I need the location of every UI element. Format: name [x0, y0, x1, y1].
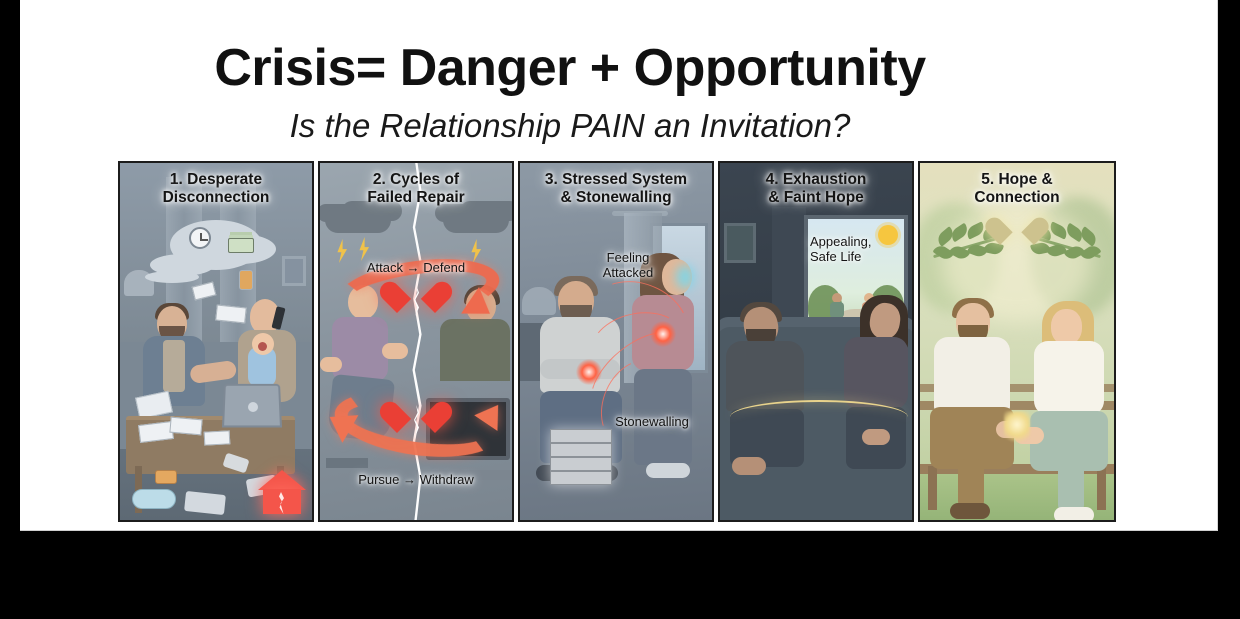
panel-3-illustration: [520, 163, 712, 520]
cracked-house-icon: [258, 470, 306, 514]
appealing-safe-life-label: Appealing, Safe Life: [810, 235, 892, 265]
pill-bottle-icon: [155, 470, 177, 484]
attack-defend-label: Attack → Defend: [320, 261, 512, 276]
panel-desperate-disconnection[interactable]: 1. Desperate Disconnection: [118, 161, 314, 522]
man-figure: [930, 303, 1022, 510]
panel-2-title: 2. Cycles of Failed Repair: [320, 171, 512, 207]
panel-4-title: 4. Exhaustion & Faint Hope: [720, 171, 912, 207]
face-mask-icon: [132, 489, 176, 509]
red-spark-icon: [650, 321, 676, 347]
lightning-bolt-icon: [358, 237, 370, 261]
panel-exhaustion-and-faint-hope[interactable]: 4. Exhaustion & Faint Hope Appealing, Sa…: [718, 161, 914, 522]
lightning-bolt-icon: [336, 239, 348, 263]
panel-3-title: 3. Stressed System & Stonewalling: [520, 171, 712, 207]
warm-glow-icon: [1004, 411, 1030, 445]
panel-2-illustration: [320, 163, 512, 520]
broken-heart-icon: [397, 403, 435, 437]
panel-1-title: 1. Desperate Disconnection: [120, 171, 312, 207]
panel-hope-and-connection[interactable]: 5. Hope & Connection: [918, 161, 1116, 522]
panel-1-illustration: [120, 163, 312, 520]
woman-figure: [1020, 309, 1108, 516]
picture-frame-icon: [724, 223, 756, 263]
brick-wall-icon: [550, 429, 612, 485]
lamp-icon: [124, 270, 154, 296]
panel-cycles-of-failed-repair[interactable]: 2. Cycles of Failed Repair Attack → Defe…: [318, 161, 514, 522]
document-sheet: Crisis= Danger + Opportunity Is the Rela…: [20, 0, 1218, 531]
golden-thread-icon: [730, 400, 908, 434]
clock-icon: [189, 227, 211, 249]
heart-icon: [1000, 219, 1034, 249]
page-subtitle: Is the Relationship PAIN an Invitation?: [20, 108, 1120, 144]
panel-5-title: 5. Hope & Connection: [920, 171, 1114, 207]
broken-heart-icon: [397, 283, 435, 317]
panel-stressed-system-and-stonewalling[interactable]: 3. Stressed System & Stonewalling Feelin…: [518, 161, 714, 522]
stonewalling-label: Stonewalling: [600, 415, 704, 430]
page-title: Crisis= Danger + Opportunity: [20, 42, 1120, 94]
torn-page-icon: [408, 163, 424, 520]
red-spark-icon: [576, 359, 602, 385]
panel-5-illustration: [920, 163, 1114, 520]
money-stack-icon: [228, 238, 254, 253]
screenshot-root: Crisis= Danger + Opportunity Is the Rela…: [0, 0, 1240, 619]
storm-cloud-icon: [325, 207, 391, 233]
crying-baby-icon: [248, 347, 276, 387]
panel-strip: 1. Desperate Disconnection: [118, 161, 1120, 522]
storm-cloud-icon: [443, 207, 509, 233]
laptop-icon: [222, 384, 282, 428]
panel-4-illustration: [720, 163, 912, 520]
picture-frame-icon: [282, 256, 306, 286]
feeling-attacked-label: Feeling Attacked: [582, 251, 674, 281]
pursue-withdraw-label: Pursue → Withdraw: [320, 473, 512, 488]
lightning-bolt-icon: [470, 239, 482, 263]
